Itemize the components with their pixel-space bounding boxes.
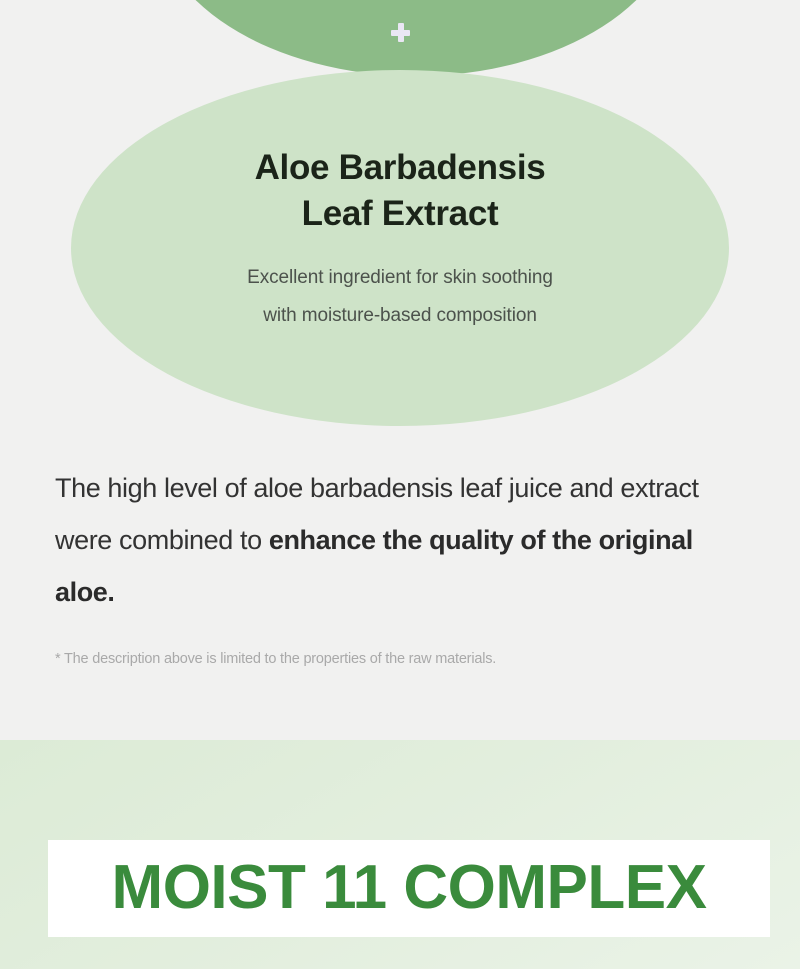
page-title: Aloe Barbadensis Leaf Extract (0, 145, 800, 237)
plus-icon (391, 23, 410, 42)
description-paragraph: The high level of aloe barbadensis leaf … (55, 462, 755, 618)
complex-band-section: MOIST 11 COMPLEX (0, 740, 800, 969)
page-title-line-2: Leaf Extract (302, 194, 499, 233)
description-footnote: * The description above is limited to th… (55, 648, 775, 670)
hero-section: Aloe Barbadensis Leaf Extract Excellent … (0, 0, 800, 740)
page-subtitle-line-2: with moisture-based composition (263, 305, 537, 326)
complex-title-bar: MOIST 11 COMPLEX (48, 840, 770, 937)
upper-ellipse-shape (152, 0, 680, 76)
hero-text-block: Aloe Barbadensis Leaf Extract Excellent … (0, 145, 800, 335)
page-subtitle: Excellent ingredient for skin soothing w… (0, 259, 800, 335)
page-title-line-1: Aloe Barbadensis (255, 148, 546, 187)
complex-title: MOIST 11 COMPLEX (112, 857, 707, 919)
page-subtitle-line-1: Excellent ingredient for skin soothing (247, 267, 553, 288)
